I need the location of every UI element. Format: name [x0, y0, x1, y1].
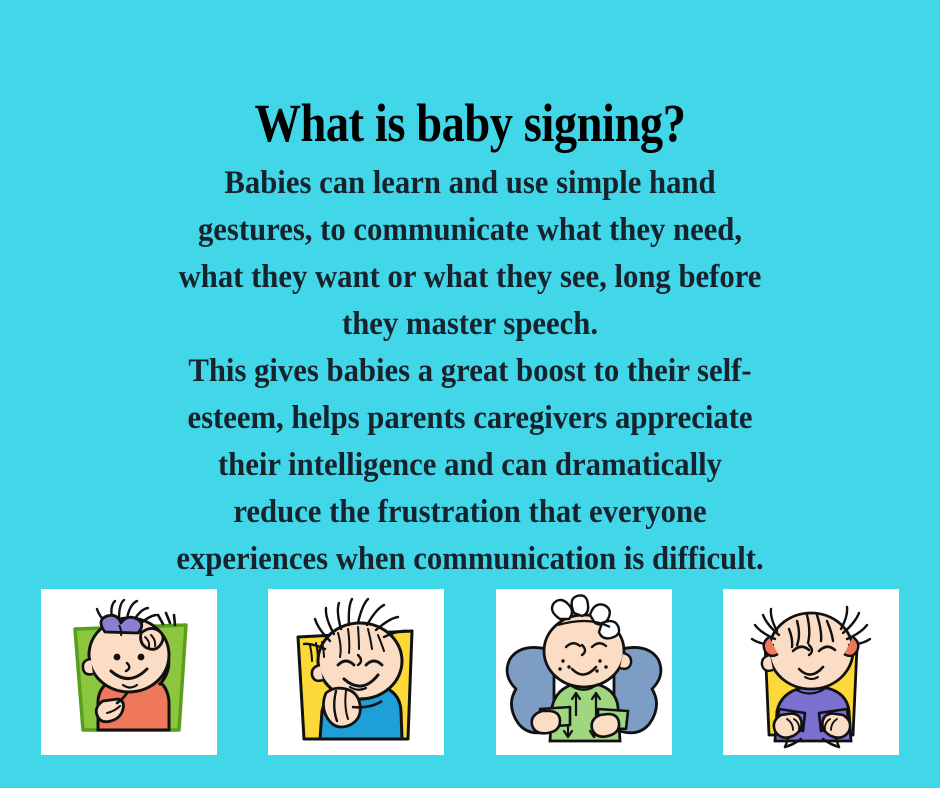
body-line: what they want or what they see, long be…	[121, 254, 819, 301]
body-line: reduce the frustration that everyone	[121, 489, 819, 536]
baby-signing-please-illustration	[723, 589, 899, 755]
gallery-card-baby-signing-please	[723, 589, 899, 755]
baby-signing-hat-illustration	[41, 589, 217, 755]
baby-signing-more-illustration	[496, 589, 672, 755]
gallery-card-baby-signing-hat	[41, 589, 217, 755]
body-line: their intelligence and can dramatically	[121, 442, 819, 489]
poster-canvas: What is baby signing? Babies can learn a…	[0, 0, 940, 788]
body-line: they master speech.	[121, 301, 819, 348]
body-line: experiences when communication is diffic…	[121, 536, 819, 583]
page-title: What is baby signing?	[66, 94, 874, 152]
body-copy-block: Babies can learn and use simple hand ges…	[95, 160, 845, 583]
body-line: gestures, to communicate what they need,	[121, 207, 819, 254]
body-line: This gives babies a great boost to their…	[121, 348, 819, 395]
body-line: esteem, helps parents caregivers appreci…	[121, 395, 819, 442]
gallery-card-baby-signing-more	[496, 589, 672, 755]
body-line: Babies can learn and use simple hand	[121, 160, 819, 207]
baby-signing-sleep-illustration	[268, 589, 444, 755]
baby-sign-gallery	[41, 589, 899, 755]
gallery-card-baby-signing-sleep	[268, 589, 444, 755]
